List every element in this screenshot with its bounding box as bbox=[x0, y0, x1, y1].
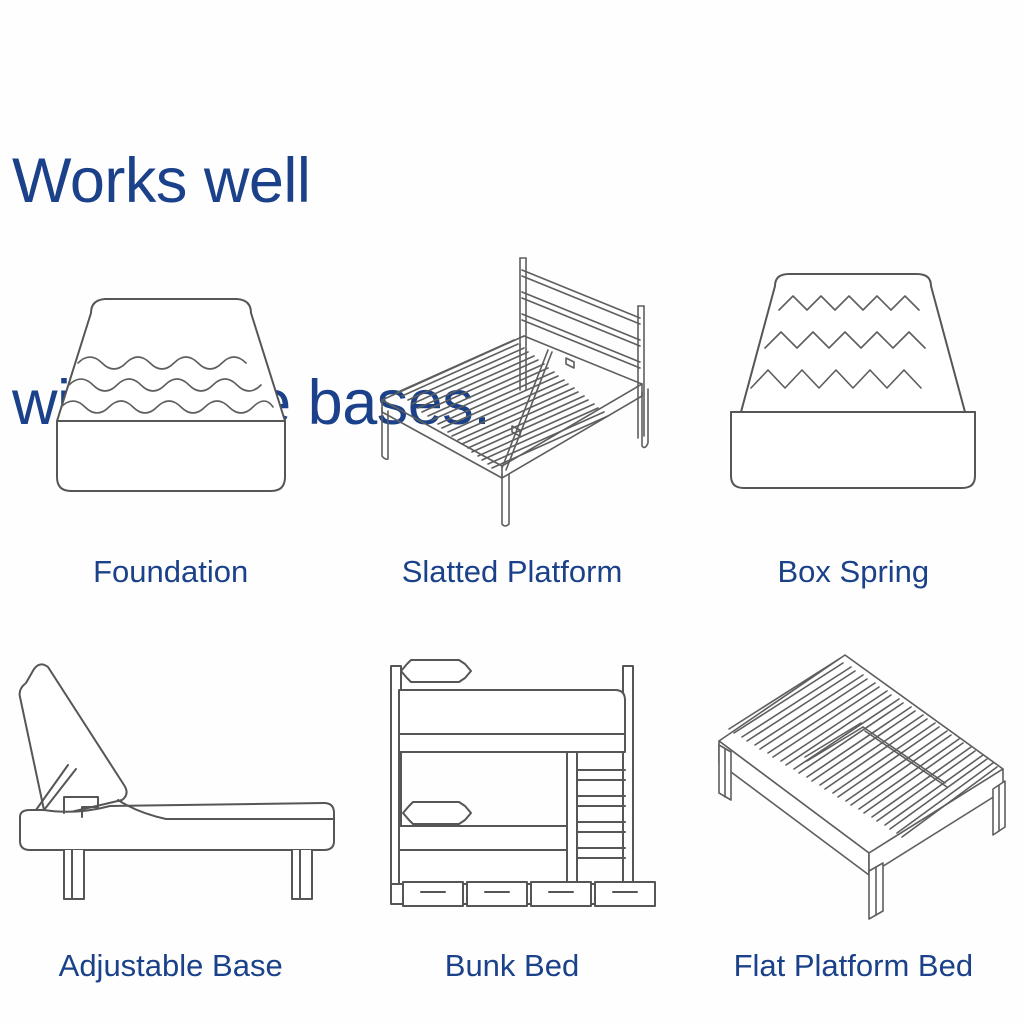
adjustable-base-icon bbox=[0, 622, 341, 922]
base-label-adjustable-base: Adjustable Base bbox=[59, 948, 283, 984]
bases-grid: Foundation bbox=[0, 220, 1024, 1024]
slatted-platform-bed-icon bbox=[341, 220, 682, 550]
base-card-adjustable-base: Adjustable Base bbox=[0, 622, 341, 1024]
base-label-bunk-bed: Bunk Bed bbox=[445, 948, 579, 984]
base-card-box-spring: Box Spring bbox=[683, 220, 1024, 622]
base-label-flat-platform-bed: Flat Platform Bed bbox=[734, 948, 973, 984]
flat-platform-bed-icon bbox=[683, 622, 1024, 922]
base-card-bunk-bed: Bunk Bed bbox=[341, 622, 682, 1024]
base-label-slatted-platform: Slatted Platform bbox=[402, 554, 623, 590]
base-label-box-spring: Box Spring bbox=[778, 554, 930, 590]
box-spring-icon bbox=[683, 220, 1024, 550]
base-label-foundation: Foundation bbox=[93, 554, 248, 590]
base-card-flat-platform-bed: Flat Platform Bed bbox=[683, 622, 1024, 1024]
foundation-mattress-icon bbox=[0, 220, 341, 550]
bunk-bed-icon bbox=[341, 622, 682, 922]
base-card-slatted-platform: Slatted Platform bbox=[341, 220, 682, 622]
product-compatibility-graphic: Works well with these bases. bbox=[0, 0, 1024, 1024]
page-title-line-1: Works well bbox=[12, 144, 812, 218]
base-card-foundation: Foundation bbox=[0, 220, 341, 622]
